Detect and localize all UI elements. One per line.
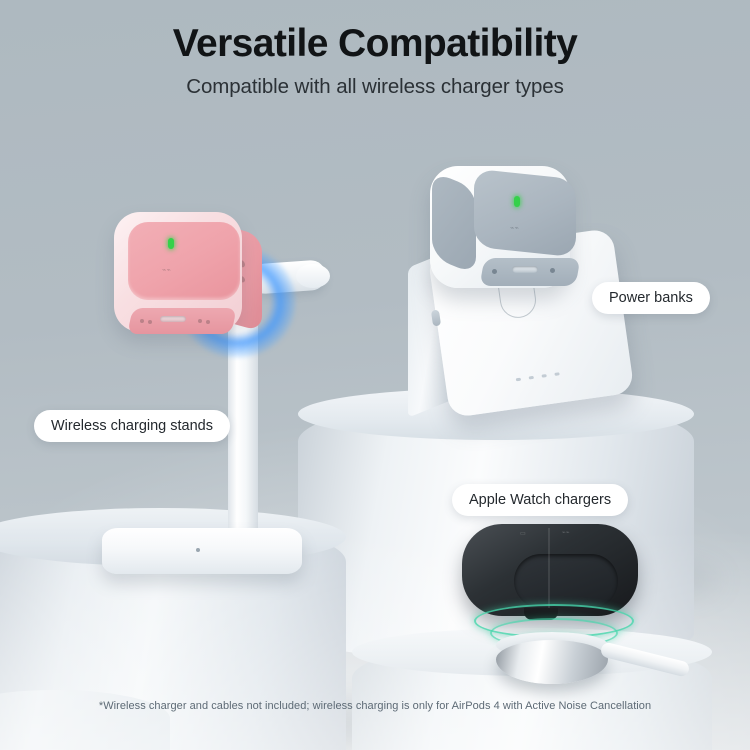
- case-inner-recess: [514, 554, 618, 608]
- callout-label: Wireless charging stands: [51, 418, 213, 434]
- usb-c-port: [160, 316, 186, 322]
- case-text-mark: ▭: [520, 530, 526, 537]
- charging-led-green-icon: [168, 238, 174, 249]
- brand-logo-icon: ⌁⌁: [510, 224, 519, 232]
- callout-wireless-charging-stands[interactable]: Wireless charging stands: [34, 410, 230, 442]
- callout-power-banks[interactable]: Power banks: [592, 282, 710, 314]
- headline-block: Versatile Compatibility Compatible with …: [0, 22, 750, 99]
- pink-airpods-case: ⌁⌁: [108, 206, 284, 362]
- white-airpods-case: ⌁⌁: [430, 166, 570, 288]
- brand-logo-icon: ⌁⌁: [562, 529, 570, 536]
- brand-logo-icon: ⌁⌁: [162, 266, 171, 274]
- disclaimer-footnote: *Wireless charger and cables not include…: [0, 700, 750, 712]
- callout-apple-watch-chargers[interactable]: Apple Watch chargers: [452, 484, 628, 516]
- case-side-panel: [432, 171, 476, 275]
- page-subtitle: Compatible with all wireless charger typ…: [0, 75, 750, 99]
- callout-label: Apple Watch chargers: [469, 492, 611, 508]
- apple-watch-charger-assembly: ▭ ⌁⌁: [452, 524, 652, 674]
- case-body: ⌁⌁: [114, 212, 242, 332]
- charging-led-green-icon: [514, 196, 520, 207]
- stand-base: [102, 528, 302, 574]
- product-image-canvas: Versatile Compatibility Compatible with …: [0, 0, 750, 750]
- stand-watch-disc: [296, 264, 330, 288]
- stand-indicator-dot: [196, 548, 200, 552]
- case-lid: [128, 222, 240, 300]
- case-lid: [474, 169, 576, 258]
- usb-c-port: [512, 266, 538, 273]
- black-airpods-case: ▭ ⌁⌁: [462, 524, 638, 616]
- case-seam: [548, 528, 550, 614]
- callout-label: Power banks: [609, 290, 693, 306]
- page-title: Versatile Compatibility: [0, 22, 750, 66]
